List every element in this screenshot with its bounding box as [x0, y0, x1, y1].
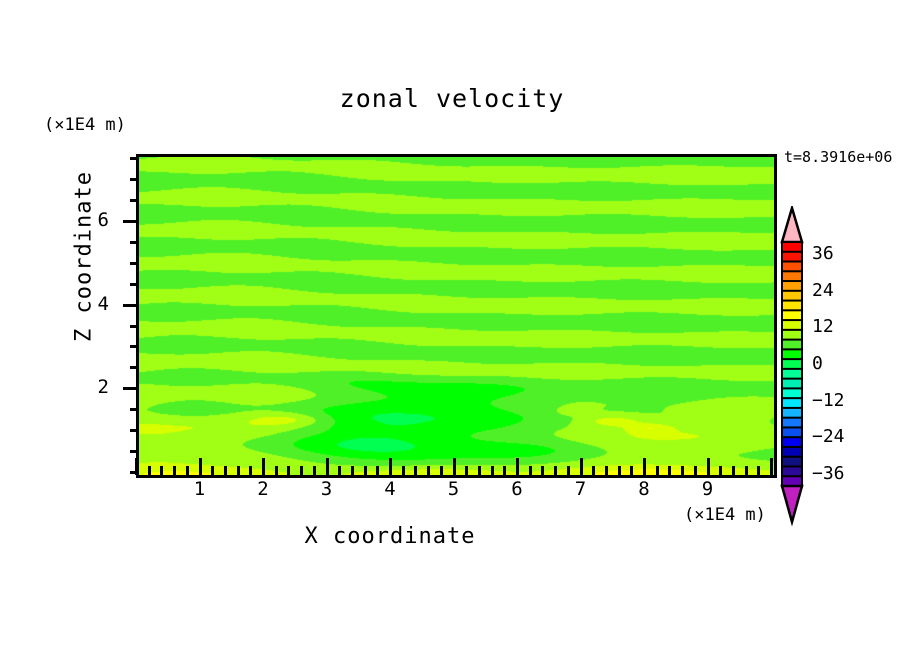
colorbar-tick-label: 36	[812, 243, 834, 264]
y-axis-title: Z coordinate	[72, 137, 97, 377]
x-tick-label: 2	[248, 478, 278, 500]
plot-figure: zonal velocity (×1E4 m) (×1E4 m) t=8.391…	[0, 0, 904, 654]
x-tick-label: 4	[375, 478, 405, 500]
x-tick-label: 8	[629, 478, 659, 500]
contour-plot-area	[136, 154, 777, 478]
colorbar-tick-label: −12	[812, 390, 845, 411]
x-axis-units-label: (×1E4 m)	[684, 505, 766, 525]
colorbar-tick-label: 12	[812, 316, 834, 337]
colorbar-swatches	[778, 206, 806, 526]
x-tick-label: 1	[185, 478, 215, 500]
y-axis-units-label: (×1E4 m)	[44, 115, 126, 135]
x-tick-label: 3	[312, 478, 342, 500]
colorbar-tick-label: 0	[812, 353, 823, 374]
contour-field-canvas	[139, 157, 774, 475]
timestamp-label: t=8.3916e+06	[784, 148, 892, 166]
colorbar	[778, 206, 806, 522]
colorbar-over-arrow	[782, 208, 802, 242]
x-tick-label: 9	[693, 478, 723, 500]
colorbar-under-arrow	[782, 486, 802, 522]
colorbar-tick-label: −24	[812, 426, 845, 447]
x-tick-label: 7	[566, 478, 596, 500]
x-tick-label: 6	[502, 478, 532, 500]
y-tick-label: 2	[85, 376, 109, 398]
colorbar-tick-label: 24	[812, 280, 834, 301]
colorbar-tick-label: −36	[812, 463, 845, 484]
page-title: zonal velocity	[0, 84, 904, 113]
x-axis-title: X coordinate	[0, 524, 780, 549]
x-tick-label: 5	[439, 478, 469, 500]
